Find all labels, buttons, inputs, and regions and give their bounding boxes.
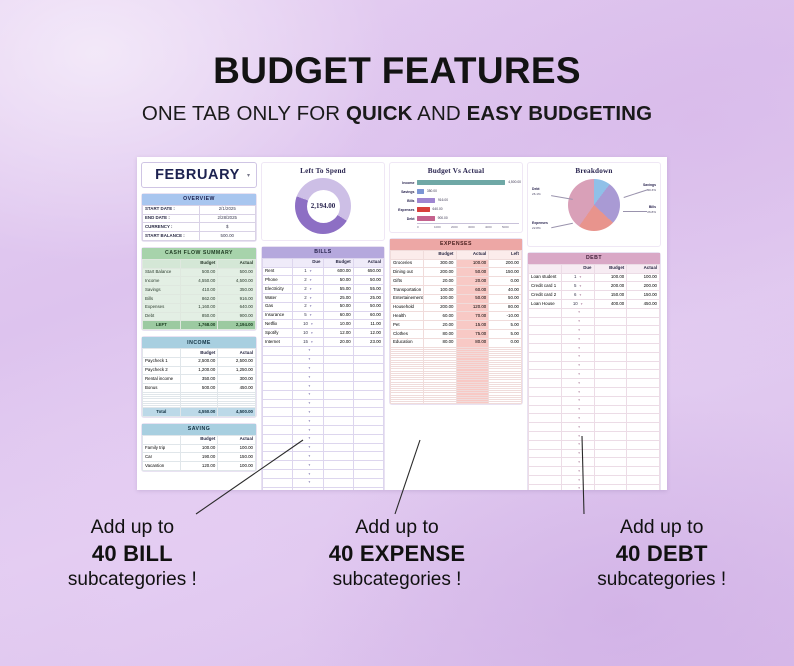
bills-row-actual[interactable] bbox=[353, 425, 383, 434]
debt-row-label[interactable] bbox=[529, 343, 562, 352]
expenses-row-left[interactable]: 5.00 bbox=[489, 321, 522, 330]
debt-row-budget[interactable] bbox=[594, 370, 627, 379]
bills-row[interactable]: Water2▾25.0025.00 bbox=[263, 293, 384, 302]
overview-row-value[interactable]: 500.00 bbox=[199, 232, 256, 241]
bills-row-label[interactable] bbox=[263, 355, 293, 364]
bills-row-actual[interactable]: 650.00 bbox=[353, 267, 383, 276]
debt-row-budget[interactable] bbox=[594, 335, 627, 344]
expenses-row-budget[interactable]: 300.00 bbox=[423, 259, 456, 268]
bills-row-budget[interactable]: 60.00 bbox=[323, 311, 353, 320]
expenses-row-budget[interactable]: 100.00 bbox=[423, 294, 456, 303]
bills-row-actual[interactable]: 50.00 bbox=[353, 276, 383, 285]
bills-row-label[interactable]: Phone bbox=[263, 276, 293, 285]
cashflow-row-actual[interactable]: 640.00 bbox=[218, 303, 256, 312]
debt-row-label[interactable] bbox=[529, 352, 562, 361]
bills-row-due[interactable]: ▾ bbox=[293, 399, 323, 408]
debt-row-actual[interactable] bbox=[627, 414, 660, 423]
debt-empty-row[interactable]: ▾ bbox=[529, 326, 660, 335]
debt-row-due[interactable]: ▾ bbox=[561, 484, 594, 490]
debt-row-label[interactable] bbox=[529, 467, 562, 476]
chevron-down-icon[interactable]: ▾ bbox=[309, 366, 311, 370]
debt-row-due[interactable]: ▾ bbox=[561, 387, 594, 396]
debt-row-budget[interactable] bbox=[594, 458, 627, 467]
chevron-down-icon[interactable]: ▾ bbox=[578, 469, 580, 473]
income-row-actual[interactable]: 450.00 bbox=[218, 384, 256, 393]
expenses-header-cell[interactable]: Left bbox=[489, 250, 522, 259]
bills-row-budget[interactable]: 55.00 bbox=[323, 285, 353, 294]
debt-row-due[interactable]: ▾ bbox=[561, 431, 594, 440]
income-row-label[interactable]: Rental income bbox=[143, 375, 181, 384]
debt-row-label[interactable] bbox=[529, 317, 562, 326]
overview-row-label[interactable]: CURRENCY : bbox=[143, 223, 200, 232]
expenses-row-left[interactable]: 50.00 bbox=[489, 294, 522, 303]
expenses-row-label[interactable]: Transportation bbox=[391, 285, 424, 294]
expenses-row-left[interactable]: 80.00 bbox=[489, 303, 522, 312]
cashflow-row-actual[interactable]: 900.00 bbox=[218, 312, 256, 321]
bills-row-actual[interactable]: 55.00 bbox=[353, 285, 383, 294]
expenses-row[interactable]: Entertainement100.0050.0050.00 bbox=[391, 294, 522, 303]
debt-row-label[interactable] bbox=[529, 326, 562, 335]
bills-row-label[interactable] bbox=[263, 390, 293, 399]
bills-row-budget[interactable] bbox=[323, 425, 353, 434]
bills-row-label[interactable]: Electricity bbox=[263, 285, 293, 294]
bills-row-budget[interactable] bbox=[323, 461, 353, 470]
bills-row-due[interactable]: ▾ bbox=[293, 487, 323, 490]
debt-empty-row[interactable]: ▾ bbox=[529, 343, 660, 352]
bills-row-due[interactable]: ▾ bbox=[293, 434, 323, 443]
debt-row-budget[interactable] bbox=[594, 387, 627, 396]
bills-row[interactable]: Spotify10▾12.0012.00 bbox=[263, 329, 384, 338]
debt-row[interactable]: Loan student1▾100.00100.00 bbox=[529, 273, 660, 282]
income-row-label[interactable]: Bonus bbox=[143, 384, 181, 393]
chevron-down-icon[interactable]: ▾ bbox=[310, 296, 312, 300]
chevron-down-icon[interactable]: ▾ bbox=[578, 398, 580, 402]
expenses-row-label[interactable]: Groceries bbox=[391, 259, 424, 268]
income-row-actual[interactable]: 300.00 bbox=[218, 375, 256, 384]
chevron-down-icon[interactable]: ▾ bbox=[309, 392, 311, 396]
chevron-down-icon[interactable]: ▾ bbox=[309, 428, 311, 432]
bills-row-label[interactable] bbox=[263, 417, 293, 426]
debt-row-budget[interactable] bbox=[594, 467, 627, 476]
cashflow-row-actual[interactable]: 500.00 bbox=[218, 268, 256, 277]
expenses-row-actual[interactable] bbox=[456, 402, 489, 404]
debt-empty-row[interactable]: ▾ bbox=[529, 440, 660, 449]
chevron-down-icon[interactable]: ▾ bbox=[309, 384, 311, 388]
debt-row-label[interactable]: Loan House bbox=[529, 299, 562, 308]
chevron-down-icon[interactable]: ▾ bbox=[580, 275, 582, 279]
debt-row-due[interactable]: ▾ bbox=[561, 317, 594, 326]
debt-row-due[interactable]: ▾ bbox=[561, 440, 594, 449]
income-row-budget[interactable]: 500.00 bbox=[180, 384, 218, 393]
bills-header-cell[interactable]: Budget bbox=[323, 258, 353, 267]
chevron-down-icon[interactable]: ▾ bbox=[247, 172, 250, 179]
debt-row-label[interactable] bbox=[529, 449, 562, 458]
chevron-down-icon[interactable]: ▾ bbox=[578, 372, 580, 376]
debt-empty-row[interactable]: ▾ bbox=[529, 475, 660, 484]
bills-row-label[interactable] bbox=[263, 469, 293, 478]
bills-row-budget[interactable]: 10.00 bbox=[323, 320, 353, 329]
bills-empty-row[interactable]: ▾ bbox=[263, 355, 384, 364]
bills-row-actual[interactable]: 60.00 bbox=[353, 311, 383, 320]
debt-row-budget[interactable]: 400.00 bbox=[594, 299, 627, 308]
debt-row-actual[interactable] bbox=[627, 467, 660, 476]
bills-row-budget[interactable]: 50.00 bbox=[323, 276, 353, 285]
bills-row[interactable]: Electricity2▾55.0055.00 bbox=[263, 285, 384, 294]
income-row-budget[interactable]: 2,500.00 bbox=[180, 357, 218, 366]
bills-row-budget[interactable] bbox=[323, 399, 353, 408]
expenses-row-budget[interactable]: 200.00 bbox=[423, 303, 456, 312]
bills-row-budget[interactable] bbox=[323, 417, 353, 426]
debt-row-budget[interactable]: 200.00 bbox=[594, 282, 627, 291]
bills-empty-row[interactable]: ▾ bbox=[263, 373, 384, 382]
debt-row-actual[interactable] bbox=[627, 396, 660, 405]
debt-row-due[interactable]: ▾ bbox=[561, 308, 594, 317]
cashflow-row-budget[interactable]: 4,550.00 bbox=[180, 277, 218, 286]
expenses-row-budget[interactable] bbox=[423, 402, 456, 404]
overview-row[interactable]: START BALANCE :500.00 bbox=[143, 232, 256, 241]
income-total-label[interactable]: Total bbox=[143, 408, 181, 417]
debt-row-budget[interactable] bbox=[594, 326, 627, 335]
expenses-row-label[interactable]: Health bbox=[391, 312, 424, 321]
debt-row-actual[interactable] bbox=[627, 370, 660, 379]
debt-row-budget[interactable]: 100.00 bbox=[594, 273, 627, 282]
bills-row[interactable]: Phone2▾50.0050.00 bbox=[263, 276, 384, 285]
debt-empty-row[interactable]: ▾ bbox=[529, 449, 660, 458]
chevron-down-icon[interactable]: ▾ bbox=[309, 348, 311, 352]
income-row[interactable]: Bonus500.00450.00 bbox=[143, 384, 256, 393]
debt-row-label[interactable] bbox=[529, 414, 562, 423]
overview-row-value[interactable]: $ bbox=[199, 223, 256, 232]
expenses-row-label[interactable]: Household bbox=[391, 303, 424, 312]
bills-row-budget[interactable]: 600.00 bbox=[323, 267, 353, 276]
debt-row-due[interactable]: ▾ bbox=[561, 396, 594, 405]
debt-row-actual[interactable] bbox=[627, 484, 660, 490]
expenses-row-label[interactable] bbox=[391, 402, 424, 404]
bills-row-actual[interactable]: 11.00 bbox=[353, 320, 383, 329]
debt-row-budget[interactable] bbox=[594, 405, 627, 414]
chevron-down-icon[interactable]: ▾ bbox=[310, 304, 312, 308]
debt-row-actual[interactable] bbox=[627, 475, 660, 484]
expenses-header-row[interactable]: BudgetActualLeft bbox=[391, 250, 522, 259]
bills-row-budget[interactable] bbox=[323, 373, 353, 382]
expenses-row-budget[interactable]: 80.00 bbox=[423, 338, 456, 347]
debt-row-due[interactable]: ▾ bbox=[561, 475, 594, 484]
debt-row-label[interactable] bbox=[529, 308, 562, 317]
debt-empty-row[interactable]: ▾ bbox=[529, 308, 660, 317]
debt-row-budget[interactable] bbox=[594, 431, 627, 440]
debt-row-budget[interactable] bbox=[594, 379, 627, 388]
expenses-row[interactable]: Health60.0070.00-10.00 bbox=[391, 312, 522, 321]
expenses-row-left[interactable]: 0.00 bbox=[489, 338, 522, 347]
saving-row-actual[interactable]: 100.00 bbox=[218, 444, 256, 453]
bills-row-label[interactable] bbox=[263, 408, 293, 417]
bills-row-budget[interactable] bbox=[323, 408, 353, 417]
cashflow-row-actual[interactable]: 916.00 bbox=[218, 294, 256, 303]
chevron-down-icon[interactable]: ▾ bbox=[580, 284, 582, 288]
debt-row-due[interactable]: ▾ bbox=[561, 414, 594, 423]
chevron-down-icon[interactable]: ▾ bbox=[581, 302, 583, 306]
debt-row-actual[interactable] bbox=[627, 449, 660, 458]
chevron-down-icon[interactable]: ▾ bbox=[578, 381, 580, 385]
expenses-row-left[interactable]: -10.00 bbox=[489, 312, 522, 321]
debt-row-label[interactable] bbox=[529, 379, 562, 388]
expenses-row-actual[interactable]: 20.00 bbox=[456, 277, 489, 286]
income-row-budget[interactable]: 1,200.00 bbox=[180, 366, 218, 375]
debt-row-budget[interactable] bbox=[594, 361, 627, 370]
chevron-down-icon[interactable]: ▾ bbox=[309, 480, 311, 484]
debt-header-cell[interactable]: Due bbox=[561, 264, 594, 273]
debt-row-actual[interactable] bbox=[627, 343, 660, 352]
bills-row-label[interactable] bbox=[263, 452, 293, 461]
debt-row[interactable]: Credit card 15▾200.00200.00 bbox=[529, 282, 660, 291]
expenses-row-actual[interactable]: 60.00 bbox=[456, 285, 489, 294]
bills-empty-row[interactable]: ▾ bbox=[263, 461, 384, 470]
bills-row[interactable]: Internet15▾20.0023.00 bbox=[263, 337, 384, 346]
debt-empty-row[interactable]: ▾ bbox=[529, 423, 660, 432]
debt-row-actual[interactable] bbox=[627, 387, 660, 396]
debt-row-due[interactable]: ▾ bbox=[561, 326, 594, 335]
bills-row-budget[interactable] bbox=[323, 443, 353, 452]
debt-row-due[interactable]: 5▾ bbox=[561, 282, 594, 291]
debt-row[interactable]: Credit card 26▾150.00150.00 bbox=[529, 291, 660, 300]
bills-row-actual[interactable] bbox=[353, 355, 383, 364]
expenses-row-label[interactable]: Dining out bbox=[391, 268, 424, 277]
expenses-row-actual[interactable]: 15.00 bbox=[456, 321, 489, 330]
cashflow-row-actual[interactable]: 4,500.00 bbox=[218, 277, 256, 286]
bills-row-label[interactable]: Insurance bbox=[263, 311, 293, 320]
debt-header-cell[interactable]: Budget bbox=[594, 264, 627, 273]
debt-row-budget[interactable] bbox=[594, 414, 627, 423]
bills-row-budget[interactable]: 50.00 bbox=[323, 302, 353, 311]
cashflow-total-actual[interactable]: 2,194.00 bbox=[218, 321, 256, 330]
overview-row-label[interactable]: END DATE : bbox=[143, 214, 200, 223]
debt-row-label[interactable] bbox=[529, 431, 562, 440]
chevron-down-icon[interactable]: ▾ bbox=[578, 434, 580, 438]
debt-row-actual[interactable] bbox=[627, 431, 660, 440]
debt-row[interactable]: Loan House10▾400.00450.00 bbox=[529, 299, 660, 308]
debt-row-label[interactable] bbox=[529, 440, 562, 449]
expenses-row-label[interactable]: Pet bbox=[391, 321, 424, 330]
debt-row-label[interactable] bbox=[529, 458, 562, 467]
bills-row-due[interactable]: 15▾ bbox=[293, 337, 323, 346]
bills-row-due[interactable]: ▾ bbox=[293, 461, 323, 470]
bills-empty-row[interactable]: ▾ bbox=[263, 452, 384, 461]
bills-empty-row[interactable]: ▾ bbox=[263, 346, 384, 355]
bills-row[interactable]: Insurance5▾60.0060.00 bbox=[263, 311, 384, 320]
bills-row-due[interactable]: ▾ bbox=[293, 346, 323, 355]
chevron-down-icon[interactable]: ▾ bbox=[578, 478, 580, 482]
debt-row-due[interactable]: ▾ bbox=[561, 335, 594, 344]
chevron-down-icon[interactable]: ▾ bbox=[309, 401, 311, 405]
bills-row-actual[interactable] bbox=[353, 452, 383, 461]
chevron-down-icon[interactable]: ▾ bbox=[310, 269, 312, 273]
cashflow-header-cell[interactable]: Actual bbox=[218, 259, 256, 268]
bills-empty-row[interactable]: ▾ bbox=[263, 434, 384, 443]
chevron-down-icon[interactable]: ▾ bbox=[309, 463, 311, 467]
bills-row-actual[interactable] bbox=[353, 443, 383, 452]
bills-row-budget[interactable] bbox=[323, 434, 353, 443]
debt-row-due[interactable]: ▾ bbox=[561, 405, 594, 414]
income-header-cell[interactable]: Budget bbox=[180, 348, 218, 357]
expenses-row[interactable]: Education80.0080.000.00 bbox=[391, 338, 522, 347]
saving-row-actual[interactable]: 150.00 bbox=[218, 453, 256, 462]
cashflow-row-label[interactable]: Start Balance bbox=[143, 268, 181, 277]
expenses-header-cell[interactable]: Budget bbox=[423, 250, 456, 259]
expenses-empty-row[interactable] bbox=[391, 402, 522, 404]
cashflow-row[interactable]: Bills862.00916.00 bbox=[143, 294, 256, 303]
debt-row-due[interactable]: ▾ bbox=[561, 361, 594, 370]
debt-row-label[interactable] bbox=[529, 475, 562, 484]
bills-row-actual[interactable]: 50.00 bbox=[353, 302, 383, 311]
income-row[interactable]: Rental income350.00300.00 bbox=[143, 375, 256, 384]
bills-row-actual[interactable] bbox=[353, 381, 383, 390]
chevron-down-icon[interactable]: ▾ bbox=[578, 337, 580, 341]
bills-row-due[interactable]: ▾ bbox=[293, 355, 323, 364]
bills-row-actual[interactable] bbox=[353, 373, 383, 382]
bills-row-actual[interactable] bbox=[353, 346, 383, 355]
bills-row-actual[interactable] bbox=[353, 434, 383, 443]
bills-row-due[interactable]: ▾ bbox=[293, 469, 323, 478]
debt-row-actual[interactable]: 450.00 bbox=[627, 299, 660, 308]
chevron-down-icon[interactable]: ▾ bbox=[578, 460, 580, 464]
chevron-down-icon[interactable]: ▾ bbox=[309, 489, 311, 490]
overview-row-label[interactable]: START DATE : bbox=[143, 205, 200, 214]
debt-row-label[interactable] bbox=[529, 405, 562, 414]
bills-row-label[interactable] bbox=[263, 399, 293, 408]
month-selector[interactable]: FEBRUARY ▾ bbox=[141, 162, 257, 188]
bills-row-due[interactable]: ▾ bbox=[293, 364, 323, 373]
debt-row-budget[interactable] bbox=[594, 308, 627, 317]
bills-row-actual[interactable] bbox=[353, 364, 383, 373]
expenses-row-left[interactable]: 150.00 bbox=[489, 268, 522, 277]
bills-row-due[interactable]: ▾ bbox=[293, 381, 323, 390]
bills-empty-row[interactable]: ▾ bbox=[263, 425, 384, 434]
cashflow-row[interactable]: Debt850.00900.00 bbox=[143, 312, 256, 321]
bills-row-actual[interactable]: 23.00 bbox=[353, 337, 383, 346]
debt-row-actual[interactable] bbox=[627, 458, 660, 467]
bills-header-cell[interactable] bbox=[263, 258, 293, 267]
debt-row-due[interactable]: ▾ bbox=[561, 370, 594, 379]
bills-row-budget[interactable] bbox=[323, 452, 353, 461]
expenses-row-budget[interactable]: 80.00 bbox=[423, 329, 456, 338]
bills-row-actual[interactable]: 25.00 bbox=[353, 293, 383, 302]
bills-header-cell[interactable]: Due bbox=[293, 258, 323, 267]
chevron-down-icon[interactable]: ▾ bbox=[309, 445, 311, 449]
debt-row-actual[interactable] bbox=[627, 361, 660, 370]
debt-header-cell[interactable] bbox=[529, 264, 562, 273]
expenses-row-label[interactable]: Education bbox=[391, 338, 424, 347]
bills-row-due[interactable]: 5▾ bbox=[293, 311, 323, 320]
bills-row-actual[interactable] bbox=[353, 469, 383, 478]
cashflow-row[interactable]: Income4,550.004,500.00 bbox=[143, 277, 256, 286]
debt-row-budget[interactable] bbox=[594, 475, 627, 484]
bills-row-due[interactable]: 10▾ bbox=[293, 320, 323, 329]
bills-row-actual[interactable]: 12.00 bbox=[353, 329, 383, 338]
debt-row-label[interactable] bbox=[529, 387, 562, 396]
bills-row-due[interactable]: ▾ bbox=[293, 408, 323, 417]
chevron-down-icon[interactable]: ▾ bbox=[309, 454, 311, 458]
saving-row-actual[interactable]: 100.00 bbox=[218, 462, 256, 471]
expenses-row-budget[interactable]: 20.00 bbox=[423, 277, 456, 286]
bills-row-budget[interactable]: 12.00 bbox=[323, 329, 353, 338]
expenses-header-cell[interactable]: Actual bbox=[456, 250, 489, 259]
bills-row-budget[interactable] bbox=[323, 355, 353, 364]
bills-empty-row[interactable]: ▾ bbox=[263, 478, 384, 487]
debt-row-label[interactable]: Credit card 2 bbox=[529, 291, 562, 300]
chevron-down-icon[interactable]: ▾ bbox=[578, 486, 580, 490]
bills-row-label[interactable] bbox=[263, 346, 293, 355]
debt-header-cell[interactable]: Actual bbox=[627, 264, 660, 273]
bills-row-actual[interactable] bbox=[353, 408, 383, 417]
debt-row-budget[interactable] bbox=[594, 317, 627, 326]
bills-row-due[interactable]: 1▾ bbox=[293, 267, 323, 276]
debt-empty-row[interactable]: ▾ bbox=[529, 484, 660, 490]
chevron-down-icon[interactable]: ▾ bbox=[578, 319, 580, 323]
bills-row-label[interactable] bbox=[263, 425, 293, 434]
saving-row[interactable]: Vacantion120.00100.00 bbox=[143, 462, 256, 471]
income-row-label[interactable]: Paycheck 2 bbox=[143, 366, 181, 375]
chevron-down-icon[interactable]: ▾ bbox=[578, 451, 580, 455]
bills-row-label[interactable]: Netflix bbox=[263, 320, 293, 329]
overview-row-value[interactable]: 2/1/2025 bbox=[199, 205, 256, 214]
cashflow-row-label[interactable]: Debt bbox=[143, 312, 181, 321]
overview-row[interactable]: END DATE :2/28/2025 bbox=[143, 214, 256, 223]
chevron-down-icon[interactable]: ▾ bbox=[578, 407, 580, 411]
bills-row[interactable]: Netflix10▾10.0011.00 bbox=[263, 320, 384, 329]
bills-row-due[interactable]: ▾ bbox=[293, 478, 323, 487]
expenses-row-budget[interactable]: 200.00 bbox=[423, 268, 456, 277]
expenses-row-left[interactable]: 5.00 bbox=[489, 329, 522, 338]
saving-row-label[interactable]: Vacantion bbox=[143, 462, 181, 471]
cashflow-row-label[interactable]: Expenses bbox=[143, 303, 181, 312]
bills-row-actual[interactable] bbox=[353, 399, 383, 408]
bills-row-due[interactable]: ▾ bbox=[293, 425, 323, 434]
debt-row-actual[interactable] bbox=[627, 405, 660, 414]
debt-row-due[interactable]: ▾ bbox=[561, 423, 594, 432]
overview-row[interactable]: START DATE :2/1/2025 bbox=[143, 205, 256, 214]
cashflow-header-row[interactable]: BudgetActual bbox=[143, 259, 256, 268]
debt-row-budget[interactable] bbox=[594, 423, 627, 432]
debt-row-label[interactable]: Credit card 1 bbox=[529, 282, 562, 291]
debt-row-actual[interactable] bbox=[627, 326, 660, 335]
chevron-down-icon[interactable]: ▾ bbox=[310, 287, 312, 291]
bills-row-due[interactable]: 2▾ bbox=[293, 293, 323, 302]
chevron-down-icon[interactable]: ▾ bbox=[580, 293, 582, 297]
bills-row-actual[interactable] bbox=[353, 478, 383, 487]
cashflow-header-cell[interactable]: Budget bbox=[180, 259, 218, 268]
chevron-down-icon[interactable]: ▾ bbox=[309, 410, 311, 414]
chevron-down-icon[interactable]: ▾ bbox=[578, 328, 580, 332]
debt-row-actual[interactable] bbox=[627, 423, 660, 432]
debt-row-label[interactable] bbox=[529, 335, 562, 344]
cashflow-header-cell[interactable] bbox=[143, 259, 181, 268]
debt-row-actual[interactable] bbox=[627, 379, 660, 388]
saving-row[interactable]: Family trip100.00100.00 bbox=[143, 444, 256, 453]
expenses-row-actual[interactable]: 50.00 bbox=[456, 294, 489, 303]
bills-row[interactable]: Gas2▾50.0050.00 bbox=[263, 302, 384, 311]
debt-row-actual[interactable]: 150.00 bbox=[627, 291, 660, 300]
bills-row-actual[interactable] bbox=[353, 487, 383, 490]
chevron-down-icon[interactable]: ▾ bbox=[310, 313, 312, 317]
expenses-row-label[interactable]: Gifts bbox=[391, 277, 424, 286]
debt-row-label[interactable] bbox=[529, 484, 562, 490]
debt-row-label[interactable] bbox=[529, 396, 562, 405]
bills-empty-row[interactable]: ▾ bbox=[263, 487, 384, 490]
debt-empty-row[interactable]: ▾ bbox=[529, 335, 660, 344]
expenses-row-budget[interactable]: 20.00 bbox=[423, 321, 456, 330]
expenses-row-left[interactable]: 200.00 bbox=[489, 259, 522, 268]
expenses-row-label[interactable]: Entertainement bbox=[391, 294, 424, 303]
